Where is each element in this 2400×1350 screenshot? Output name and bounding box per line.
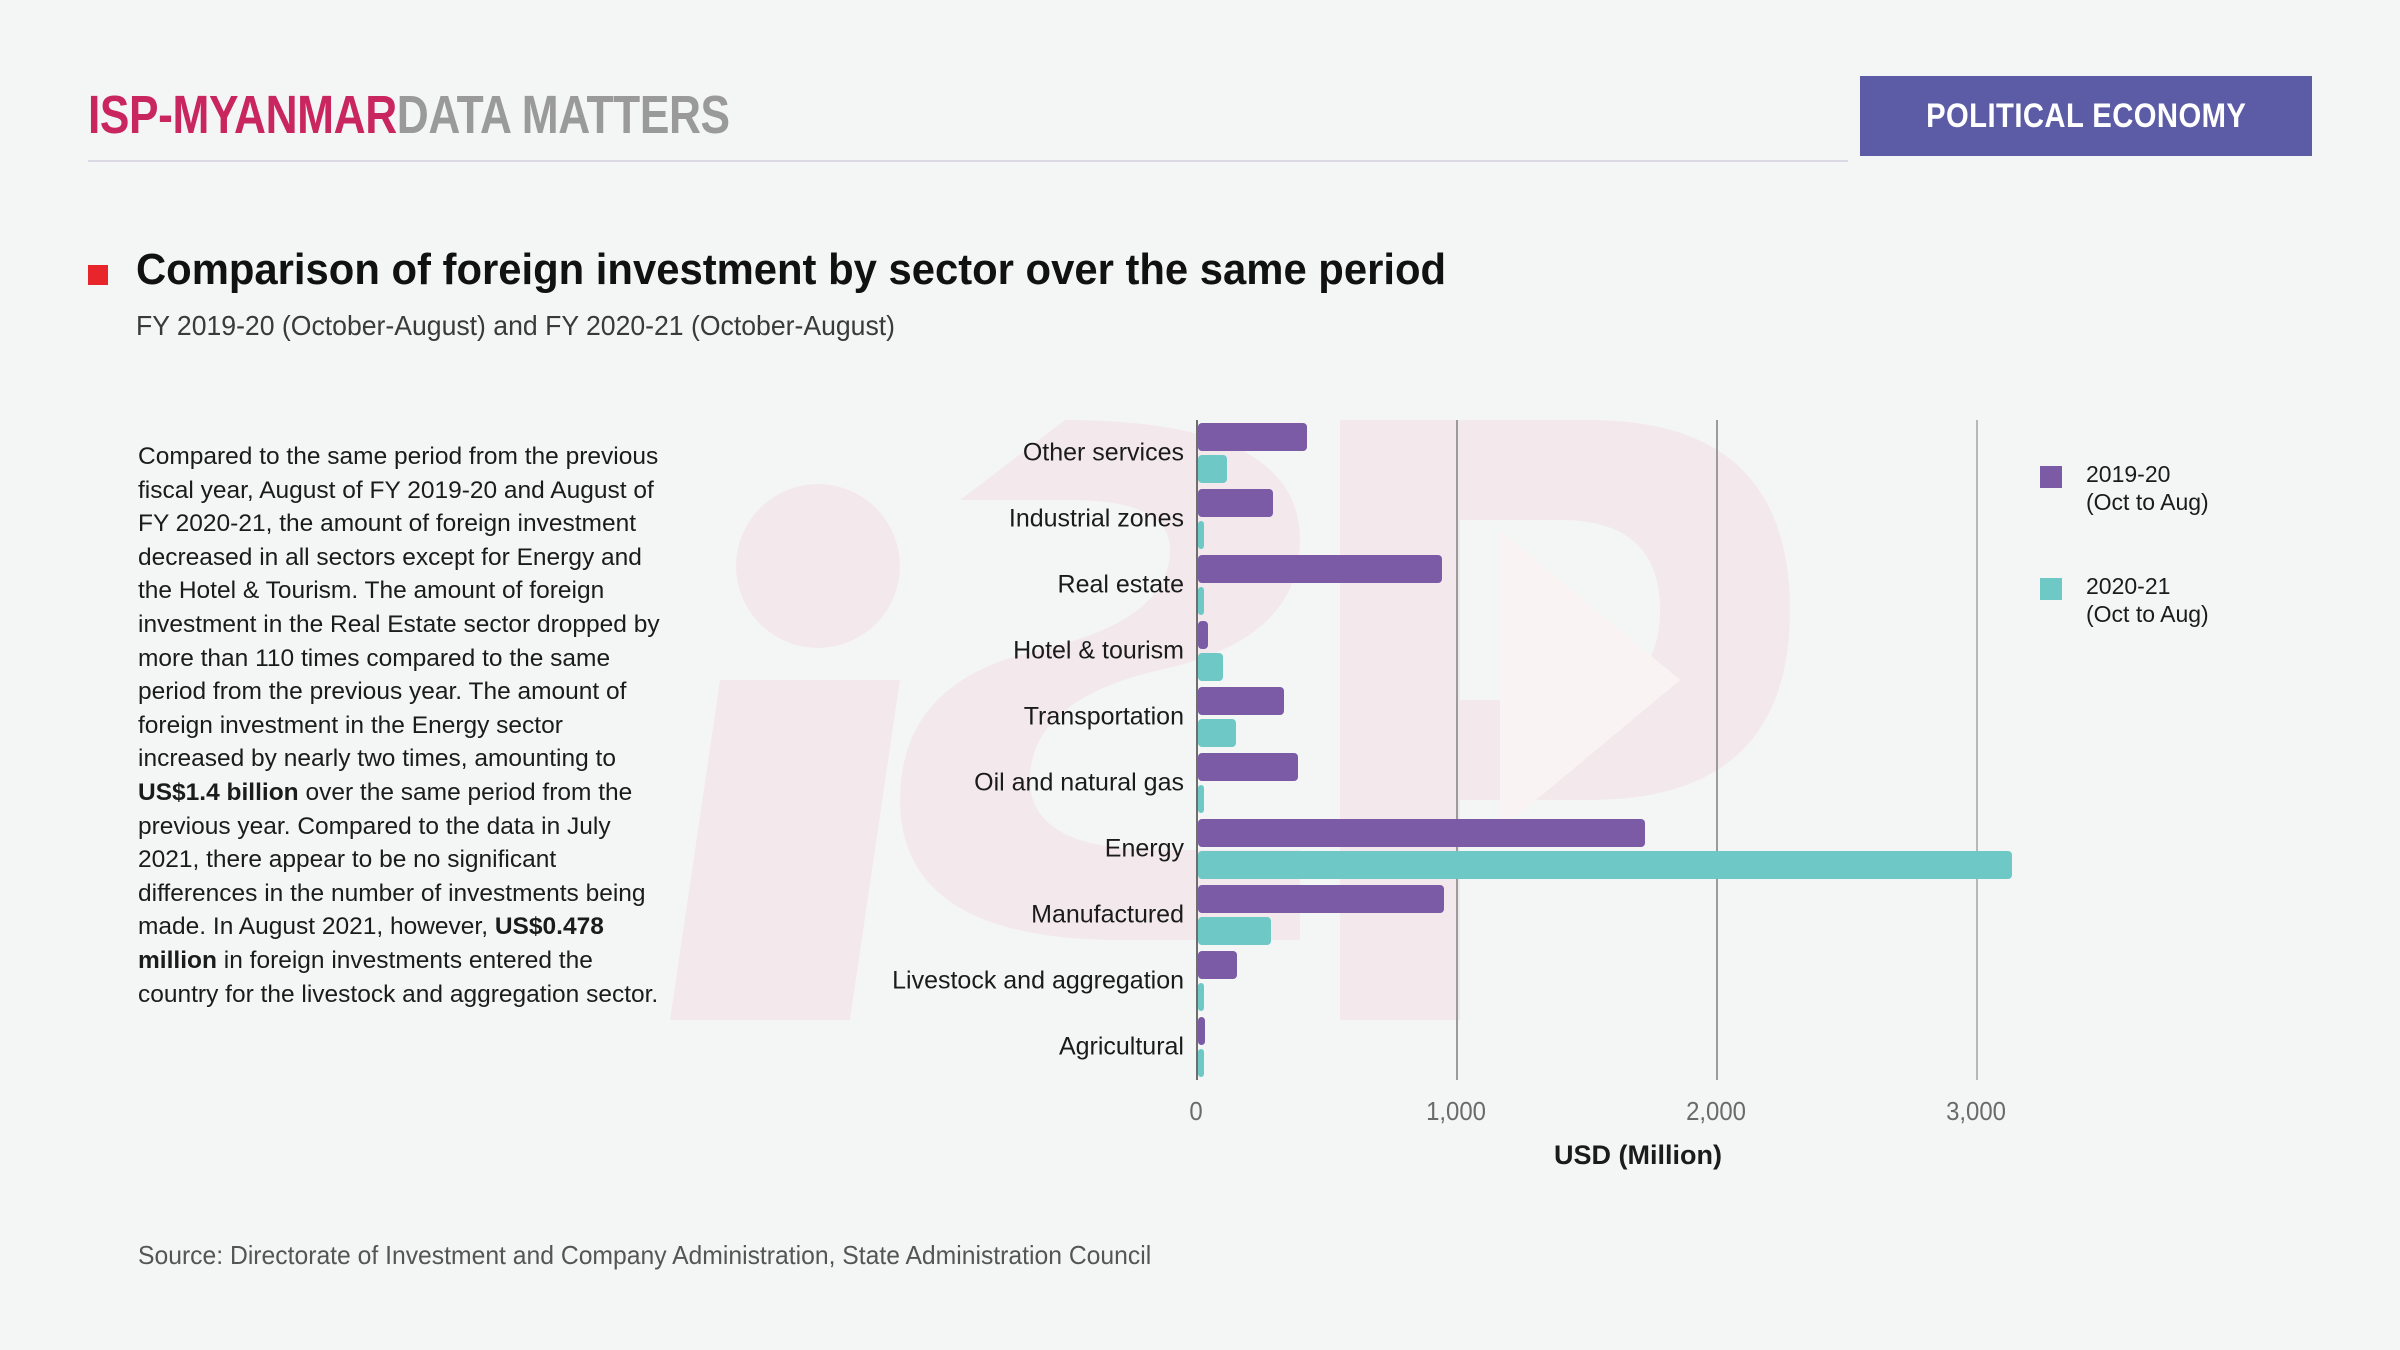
narrative-part-1: Compared to the same period from the pre… xyxy=(138,443,660,705)
bar-2020-21-6 xyxy=(1198,851,2012,879)
bar-2019-20-8 xyxy=(1198,951,1237,979)
brand-logo: ISP-MYANMARDATA MATTERS xyxy=(88,88,730,142)
bar-2019-20-1 xyxy=(1198,489,1273,517)
bar-2020-21-7 xyxy=(1198,917,1271,945)
bar-2020-21-2 xyxy=(1198,587,1204,615)
category-label-8: Livestock and aggregation xyxy=(892,967,1184,996)
bar-2019-20-7 xyxy=(1198,885,1444,913)
chart-legend: 2019-20(Oct to Aug)2020-21(Oct to Aug) xyxy=(2040,460,2209,684)
gridline-3000 xyxy=(1976,420,1978,1080)
category-badge: POLITICAL ECONOMY xyxy=(1860,76,2312,156)
legend-item-0[interactable]: 2019-20(Oct to Aug) xyxy=(2040,460,2209,516)
bar-2020-21-8 xyxy=(1198,983,1204,1011)
bar-2020-21-5 xyxy=(1198,785,1204,813)
category-label-9: Agricultural xyxy=(1059,1033,1184,1062)
bar-2019-20-0 xyxy=(1198,423,1307,451)
category-label-5: Oil and natural gas xyxy=(974,769,1184,798)
x-tick-label-3000: 3,000 xyxy=(1946,1096,2006,1127)
category-label-7: Manufactured xyxy=(1031,901,1184,930)
bar-2019-20-4 xyxy=(1198,687,1284,715)
bar-2020-21-9 xyxy=(1198,1049,1204,1077)
bar-2020-21-4 xyxy=(1198,719,1236,747)
axis-zero-line xyxy=(1196,420,1198,1080)
legend-label-name-0: 2019-20 xyxy=(2086,460,2209,488)
category-label-1: Industrial zones xyxy=(1009,505,1184,534)
category-label-6: Energy xyxy=(1105,835,1184,864)
bar-2019-20-2 xyxy=(1198,555,1442,583)
page-header: ISP-MYANMARDATA MATTERS POLITICAL ECONOM… xyxy=(0,0,2400,190)
legend-label-period-1: (Oct to Aug) xyxy=(2086,600,2209,628)
bar-chart: Other servicesIndustrial zonesReal estat… xyxy=(820,420,2080,1130)
brand-logo-primary: ISP-MYANMAR xyxy=(88,85,397,145)
bar-2019-20-9 xyxy=(1198,1017,1205,1045)
narrative-part-2c: in foreign investments entered the count… xyxy=(138,947,658,1008)
plot-area: 01,0002,0003,000 xyxy=(1196,420,2080,1080)
title-bullet-icon xyxy=(88,265,108,285)
page-subtitle: FY 2019-20 (October-August) and FY 2020-… xyxy=(136,309,1446,343)
legend-item-1[interactable]: 2020-21(Oct to Aug) xyxy=(2040,572,2209,628)
header-divider xyxy=(88,160,1848,162)
bar-2019-20-3 xyxy=(1198,621,1208,649)
category-badge-label: POLITICAL ECONOMY xyxy=(1926,97,2246,136)
bar-2019-20-5 xyxy=(1198,753,1298,781)
narrative-highlight-1: US$1.4 billion xyxy=(138,779,299,806)
gridline-1000 xyxy=(1456,420,1458,1080)
x-axis-title: USD (Million) xyxy=(1196,1140,2080,1171)
category-label-2: Real estate xyxy=(1058,571,1184,600)
brand-logo-secondary: DATA MATTERS xyxy=(397,85,730,145)
legend-label-period-0: (Oct to Aug) xyxy=(2086,488,2209,516)
title-block: Comparison of foreign investment by sect… xyxy=(88,245,1515,343)
bar-2020-21-1 xyxy=(1198,521,1204,549)
infographic-page: ISP-MYANMARDATA MATTERS POLITICAL ECONOM… xyxy=(0,0,2400,1350)
bar-2020-21-0 xyxy=(1198,455,1227,483)
legend-swatch-icon-1 xyxy=(2040,578,2062,600)
narrative-text: Compared to the same period from the pre… xyxy=(138,440,668,1011)
category-label-4: Transportation xyxy=(1024,703,1184,732)
legend-swatch-icon-0 xyxy=(2040,466,2062,488)
gridline-2000 xyxy=(1716,420,1718,1080)
source-note: Source: Directorate of Investment and Co… xyxy=(138,1240,1151,1271)
x-tick-label-0: 0 xyxy=(1189,1096,1202,1127)
category-label-0: Other services xyxy=(1023,439,1184,468)
bar-2020-21-3 xyxy=(1198,653,1223,681)
bar-2019-20-6 xyxy=(1198,819,1645,847)
category-axis: Other servicesIndustrial zonesReal estat… xyxy=(820,420,1196,1080)
legend-label-name-1: 2020-21 xyxy=(2086,572,2209,600)
category-label-3: Hotel & tourism xyxy=(1013,637,1184,666)
x-tick-label-1000: 1,000 xyxy=(1426,1096,1486,1127)
x-tick-label-2000: 2,000 xyxy=(1686,1096,1746,1127)
page-title: Comparison of foreign investment by sect… xyxy=(136,245,1446,295)
